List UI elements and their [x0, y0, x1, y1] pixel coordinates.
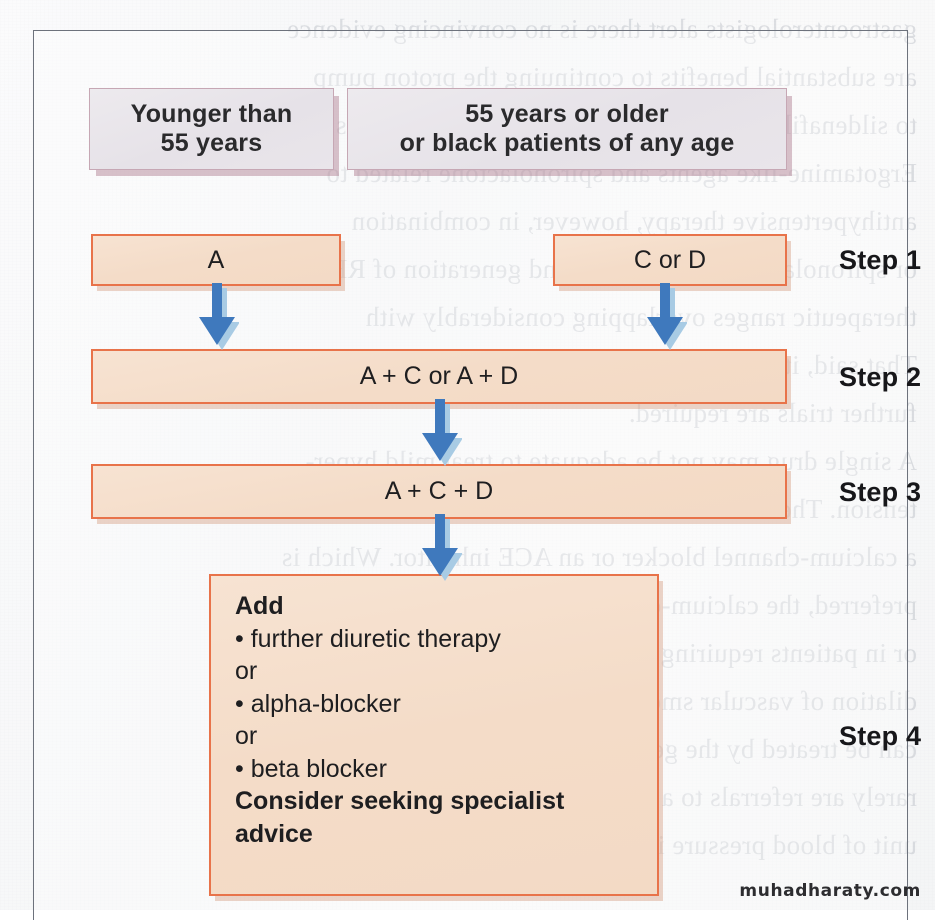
step4-footer-line-1: Consider seeking specialist	[235, 785, 564, 818]
step1-box-c-or-d: C or D	[553, 234, 787, 286]
step-label-3: Step 3	[839, 477, 921, 508]
site-watermark: muhadharaty.com	[739, 881, 921, 901]
header-box-older-text: 55 years or older or black patients of a…	[400, 100, 735, 159]
down-arrow-icon-step2-to-step3	[416, 399, 462, 471]
step4-box: Add • further diuretic therapy or • alph…	[209, 574, 659, 896]
step4-connector-1: or	[235, 655, 564, 688]
down-arrow-icon-step3-to-step4	[416, 514, 462, 586]
step4-connector-2: or	[235, 720, 564, 753]
down-arrow-icon-a-to-step2	[193, 283, 239, 355]
step1-box-a-label: A	[208, 246, 225, 275]
step4-option-1: • further diuretic therapy	[235, 623, 564, 656]
step4-content: Add • further diuretic therapy or • alph…	[235, 590, 564, 850]
scanned-page-background: gastroenterologists alert there is no co…	[0, 0, 935, 910]
header-line-2: or black patients of any age	[400, 129, 735, 159]
step1-box-c-or-d-label: C or D	[634, 246, 706, 275]
step4-option-3: • beta blocker	[235, 753, 564, 786]
header-box-55-or-older: 55 years or older or black patients of a…	[347, 88, 787, 170]
step4-option-2: • alpha-blocker	[235, 688, 564, 721]
step2-box-label: A + C or A + D	[360, 362, 518, 391]
step3-box: A + C + D	[91, 464, 787, 519]
header-line-1: Younger than	[131, 100, 293, 130]
step4-footer-line-2: advice	[235, 818, 564, 851]
step3-box-label: A + C + D	[385, 477, 493, 506]
figure-frame: Younger than 55 years 55 years or older …	[33, 30, 908, 920]
header-box-younger-than-55: Younger than 55 years	[89, 88, 334, 170]
header-box-younger-text: Younger than 55 years	[131, 100, 293, 159]
header-line-2: 55 years	[131, 129, 293, 159]
step2-box: A + C or A + D	[91, 349, 787, 404]
header-line-1: 55 years or older	[400, 100, 735, 130]
step-label-4: Step 4	[839, 721, 921, 752]
down-arrow-icon-cord-to-step2	[641, 283, 687, 355]
step1-box-a: A	[91, 234, 341, 286]
step4-heading: Add	[235, 590, 564, 623]
step-label-1: Step 1	[839, 245, 921, 276]
step-label-2: Step 2	[839, 362, 921, 393]
